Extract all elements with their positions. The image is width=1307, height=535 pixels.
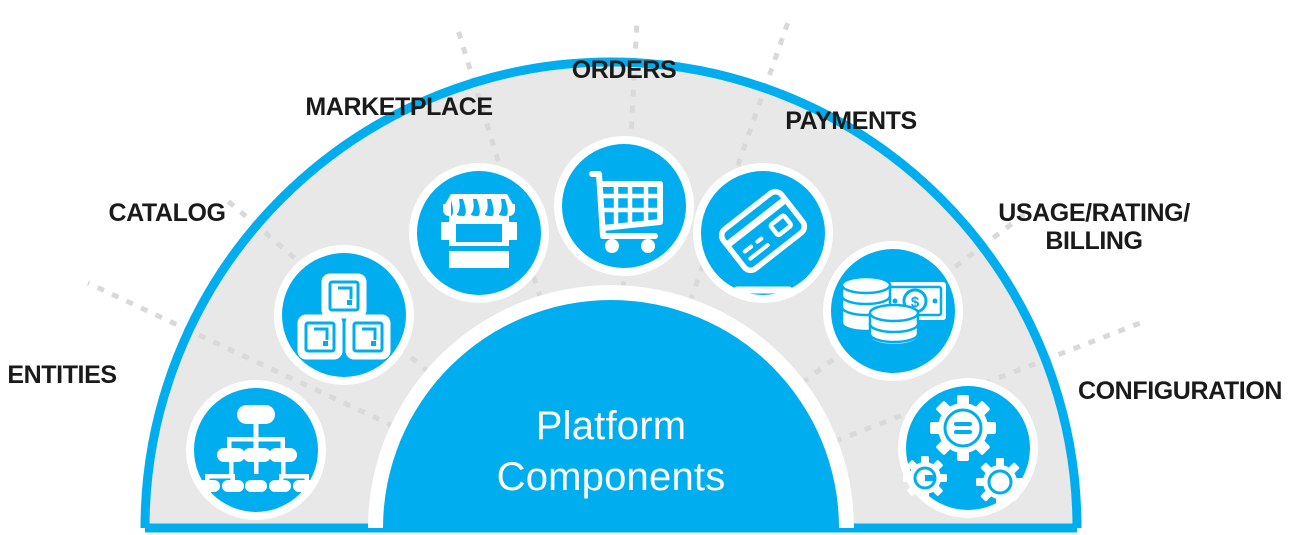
diagram-canvas: $ — [0, 0, 1307, 535]
page-title: Platform Components — [497, 401, 726, 503]
node-orders[interactable] — [554, 136, 694, 276]
label-catalog: CATALOG — [108, 199, 225, 227]
label-payments: PAYMENTS — [785, 107, 917, 135]
node-configuration[interactable] — [898, 378, 1038, 518]
node-entities[interactable] — [186, 380, 326, 520]
storefront-icon — [441, 194, 517, 268]
label-usage-rating-billing: USAGE/RATING/ BILLING — [998, 199, 1190, 255]
label-configuration: CONFIGURATION — [1078, 377, 1282, 405]
label-orders: ORDERS — [572, 56, 677, 84]
orders-circle[interactable] — [562, 144, 686, 268]
node-marketplace[interactable] — [409, 163, 549, 303]
label-entities: ENTITIES — [7, 361, 116, 389]
node-billing[interactable]: $ — [823, 241, 963, 381]
node-catalog[interactable] — [274, 245, 414, 385]
label-marketplace: MARKETPLACE — [305, 93, 492, 121]
node-payments[interactable] — [693, 163, 833, 303]
